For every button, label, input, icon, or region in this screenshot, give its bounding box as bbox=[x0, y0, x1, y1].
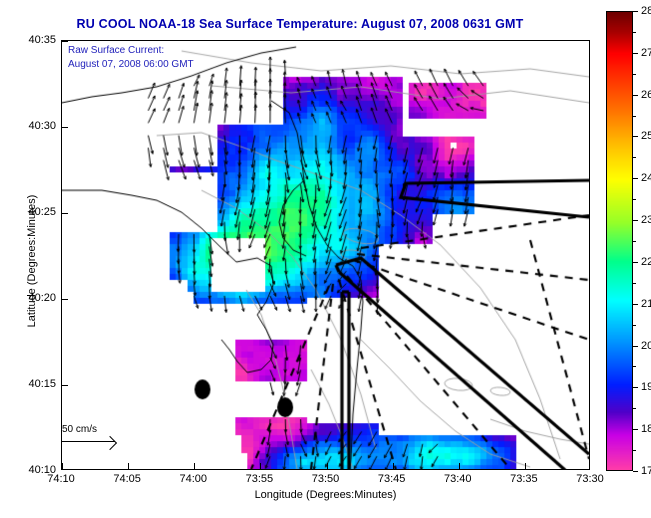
colorbar-minor-tick bbox=[633, 366, 636, 367]
colorbar-minor-tick bbox=[633, 325, 636, 326]
colorbar-minor-tick bbox=[633, 450, 636, 451]
colorbar-tick-label: 28 bbox=[641, 5, 651, 17]
colorbar-minor-tick bbox=[633, 157, 636, 158]
colorbar-minor-tick bbox=[633, 408, 636, 409]
y-tick-mark bbox=[62, 213, 68, 214]
y-tick-label: 40:30 bbox=[28, 120, 56, 132]
x-tick-mark bbox=[194, 463, 195, 469]
colorbar-minor-tick bbox=[633, 116, 636, 117]
colorbar-minor-tick bbox=[633, 241, 636, 242]
colorbar-tick-mark bbox=[633, 53, 638, 54]
x-tick-label: 73:40 bbox=[444, 473, 472, 485]
colorbar-minor-tick bbox=[633, 283, 636, 284]
x-tick-mark bbox=[327, 463, 328, 469]
x-tick-mark bbox=[525, 463, 526, 469]
x-tick-label: 74:05 bbox=[113, 473, 141, 485]
x-tick-mark bbox=[128, 463, 129, 469]
colorbar-tick-mark bbox=[633, 136, 638, 137]
x-tick-label: 73:30 bbox=[576, 473, 604, 485]
current-subtitle-line2: August 07, 2008 06:00 GMT bbox=[68, 58, 194, 72]
colorbar-tick-label: 25 bbox=[641, 130, 651, 142]
x-tick-label: 74:00 bbox=[179, 473, 207, 485]
colorbar-minor-tick bbox=[633, 74, 636, 75]
y-tick-label: 40:10 bbox=[28, 464, 56, 476]
colorbar-tick-label: 27 bbox=[641, 47, 651, 59]
colorbar-tick-mark bbox=[633, 11, 638, 12]
figure-title: RU COOL NOAA-18 Sea Surface Temperature:… bbox=[0, 17, 600, 31]
y-tick-mark bbox=[62, 127, 68, 128]
colorbar-tick-mark bbox=[633, 387, 638, 388]
colorbar-tick-mark bbox=[633, 262, 638, 263]
colorbar-tick-mark bbox=[633, 471, 638, 472]
x-tick-mark bbox=[62, 463, 63, 469]
y-tick-label: 40:35 bbox=[28, 34, 56, 46]
colorbar-tick-mark bbox=[633, 346, 638, 347]
y-tick-mark bbox=[62, 299, 68, 300]
x-tick-label: 73:45 bbox=[378, 473, 406, 485]
colorbar-tick-label: 17 bbox=[641, 465, 651, 477]
colorbar-tick-mark bbox=[633, 304, 638, 305]
colorbar-tick-mark bbox=[633, 429, 638, 430]
colorbar-tick-label: 19 bbox=[641, 381, 651, 393]
x-tick-mark bbox=[260, 463, 261, 469]
x-tick-mark bbox=[459, 463, 460, 469]
x-tick-label: 73:55 bbox=[246, 473, 274, 485]
y-tick-label: 40:15 bbox=[28, 378, 56, 390]
x-tick-mark bbox=[393, 463, 394, 469]
x-tick-label: 73:50 bbox=[312, 473, 340, 485]
arrow-right-icon bbox=[61, 437, 121, 447]
vector-scale-legend: 50 cm/s bbox=[61, 424, 121, 447]
map-plot-area[interactable]: Raw Surface Current: August 07, 2008 06:… bbox=[61, 40, 590, 470]
colorbar-tick-label: 26 bbox=[641, 89, 651, 101]
y-tick-mark bbox=[62, 385, 68, 386]
temperature-colorbar bbox=[606, 11, 633, 471]
colorbar-minor-tick bbox=[633, 199, 636, 200]
current-subtitle-line1: Raw Surface Current: bbox=[68, 44, 194, 58]
x-axis-label: Longitude (Degrees:Minutes) bbox=[61, 489, 590, 501]
colorbar-tick-mark bbox=[633, 95, 638, 96]
y-axis-label: Latitude (Degrees:Minutes) bbox=[26, 161, 38, 361]
sst-map-figure: RU COOL NOAA-18 Sea Surface Temperature:… bbox=[0, 0, 651, 518]
colorbar-minor-tick bbox=[633, 32, 636, 33]
colorbar-tick-label: 18 bbox=[641, 423, 651, 435]
colorbar-tick-mark bbox=[633, 178, 638, 179]
x-tick-label: 73:35 bbox=[510, 473, 538, 485]
current-subtitle: Raw Surface Current: August 07, 2008 06:… bbox=[68, 44, 194, 72]
vector-scale-label: 50 cm/s bbox=[62, 424, 121, 435]
sst-raster-and-overlays bbox=[62, 41, 589, 469]
y-tick-mark bbox=[62, 41, 68, 42]
colorbar-tick-mark bbox=[633, 220, 638, 221]
